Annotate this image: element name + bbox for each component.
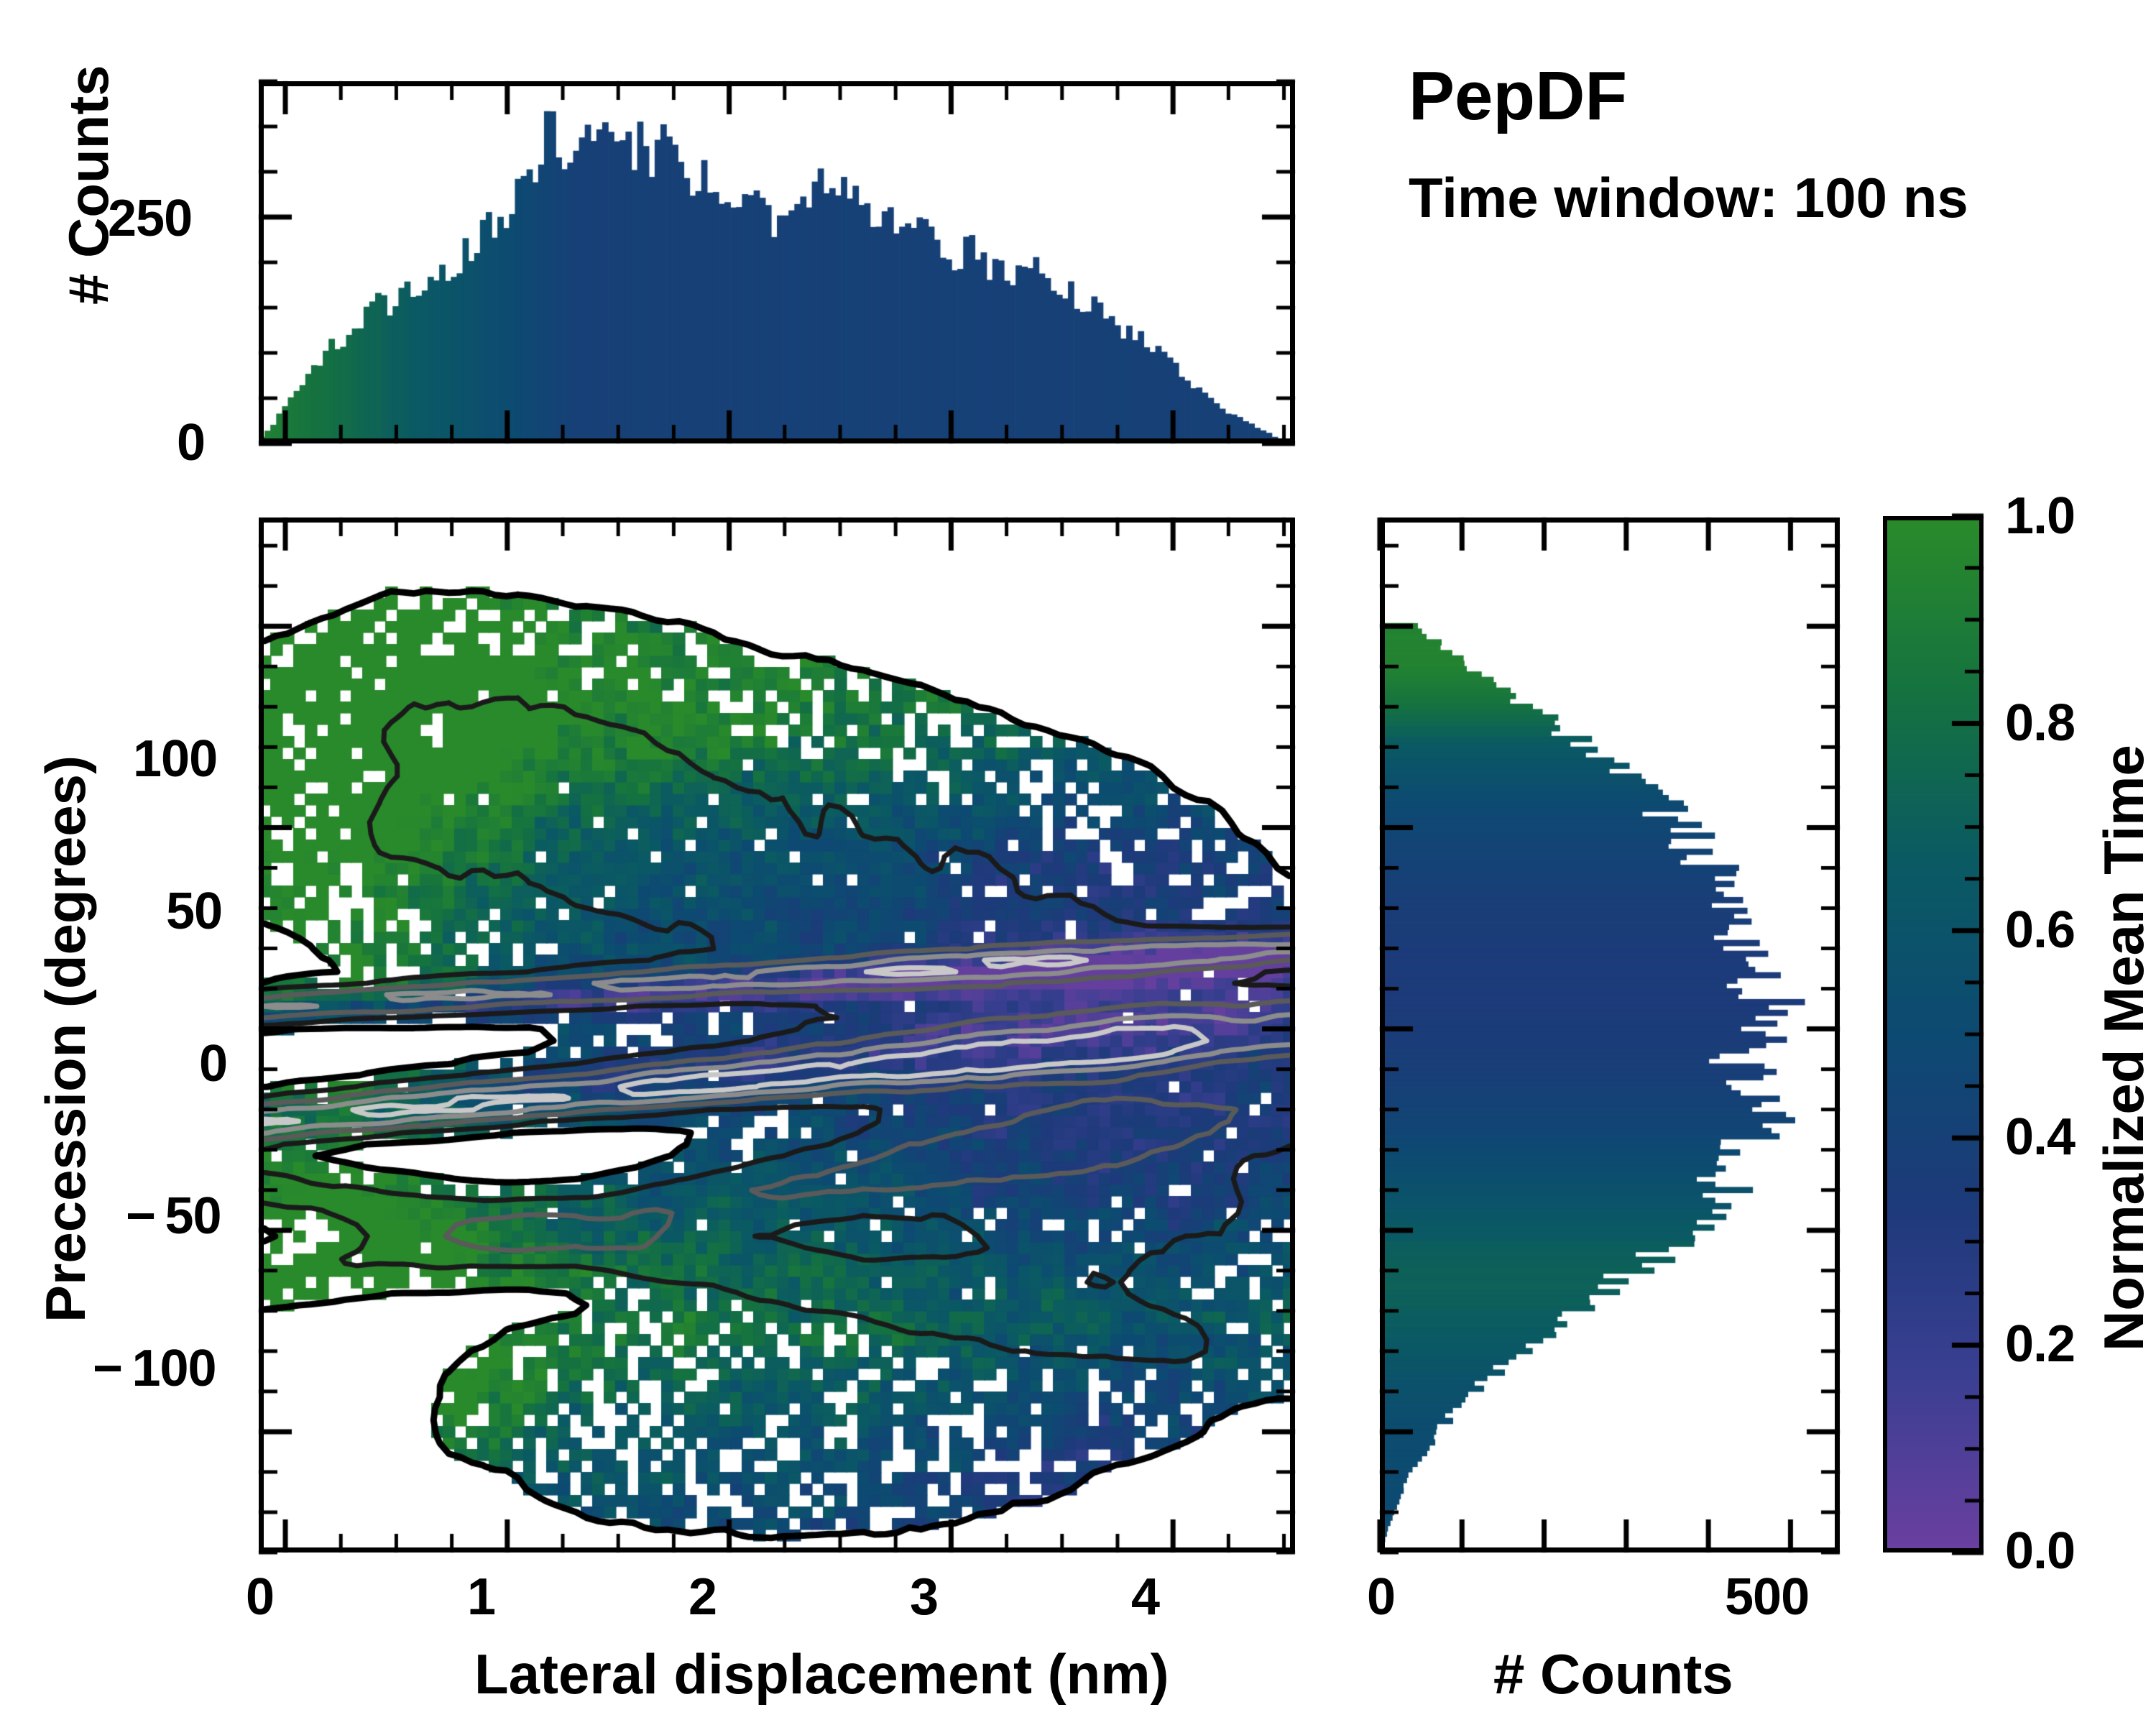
main-xlabel: Lateral displacement (nm) [474,1646,1169,1702]
main-xtick-3: 3 [910,1571,938,1623]
right-histogram-ticks [1351,503,1883,1610]
right-xtick-0: 0 [1367,1571,1395,1623]
main-xtick-2: 2 [688,1571,717,1623]
main-panel-ticks [216,503,1338,1624]
colorbar-tick-0p0: 0.0 [2005,1525,2075,1577]
top-ylabel: # Counts [60,75,116,305]
figure-root: 0 250 # Counts PepDF Time window: 100 ns… [0,0,2156,1725]
colorbar-label: Normalized Mean Time [2096,719,2152,1351]
main-xtick-0: 0 [246,1571,274,1623]
colorbar-tick-0p6: 0.6 [2005,904,2075,956]
main-ytick-100: 100 [133,733,217,785]
main-ytick-50: 50 [166,885,222,937]
right-xtick-500: 500 [1725,1571,1809,1623]
main-ytick-neg100: − 100 [93,1343,216,1394]
top-ytick-0: 0 [177,417,205,469]
main-xtick-4: 4 [1131,1571,1159,1623]
figure-title: PepDF [1409,62,1627,131]
figure-subtitle: Time window: 100 ns [1409,170,1968,226]
top-histogram-ticks [223,67,1331,501]
colorbar-ticks [1940,502,2027,1567]
colorbar-tick-0p8: 0.8 [2005,697,2075,749]
colorbar-tick-0p2: 0.2 [2005,1318,2075,1370]
main-ytick-neg50: − 50 [126,1190,221,1242]
right-xlabel: # Counts [1493,1646,1733,1702]
colorbar-tick-1p0: 1.0 [2005,490,2075,542]
main-ylabel: Precession (degrees) [37,733,93,1322]
main-xtick-1: 1 [467,1571,495,1623]
main-ytick-0: 0 [199,1038,227,1090]
top-ytick-250: 250 [108,193,192,244]
colorbar-tick-0p4: 0.4 [2005,1111,2075,1163]
